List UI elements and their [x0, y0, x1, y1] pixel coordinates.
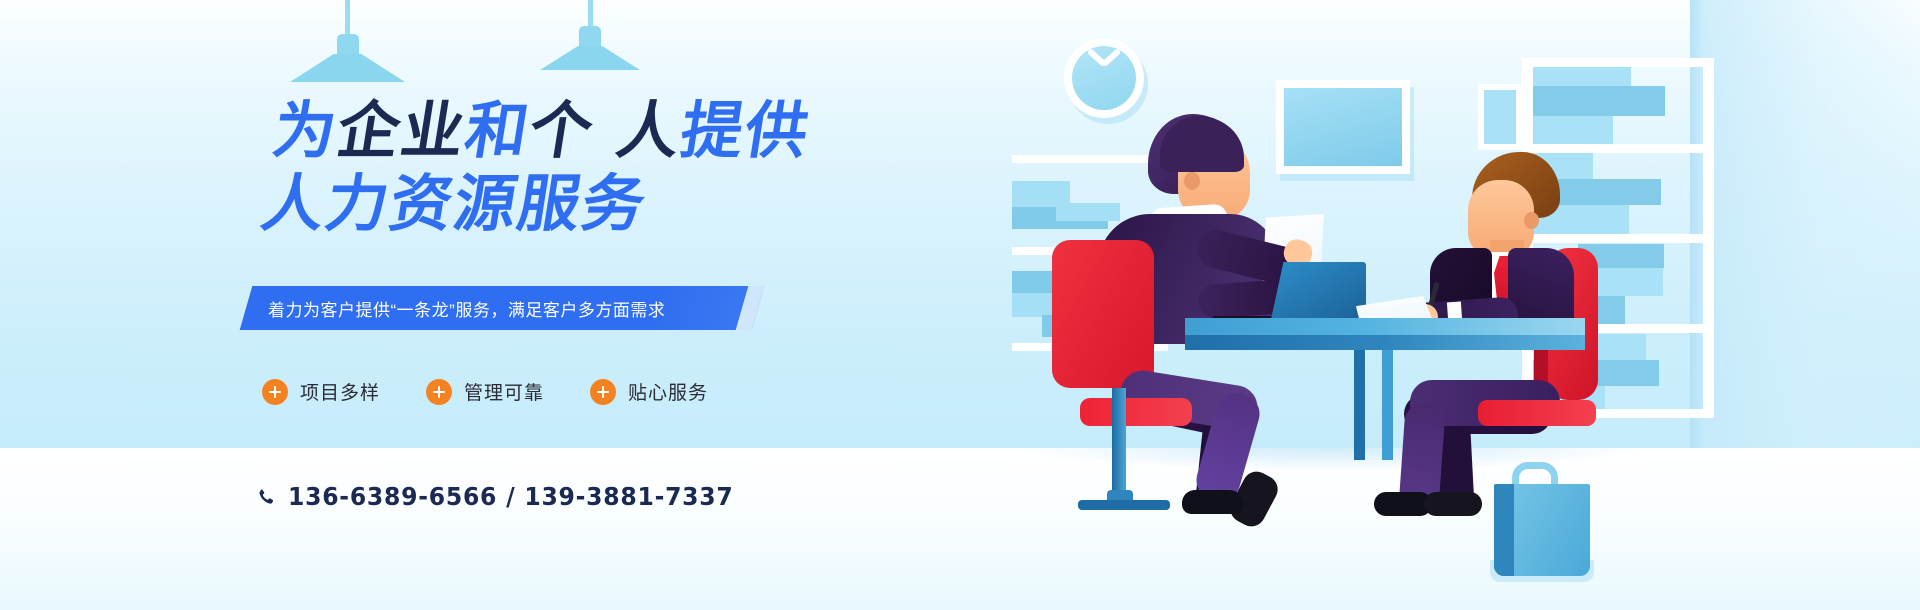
laptop-screen: [1270, 262, 1366, 324]
plus-icon: [590, 379, 616, 405]
phone-contact[interactable]: 136-6389-6566 / 139-3881-7337: [256, 482, 762, 511]
desk-leg: [1354, 350, 1365, 460]
wall-clock-icon: [1064, 38, 1144, 118]
plus-icon: [262, 379, 288, 405]
feature-item[interactable]: 贴心服务: [590, 378, 708, 405]
subtitle-text: 着力为客户提供“一条龙”服务，满足客户多方面需求: [268, 286, 768, 330]
wall-right-panel: [1690, 0, 1920, 448]
desk-front: [1185, 335, 1585, 350]
chair-right-seat: [1478, 400, 1596, 426]
feature-item[interactable]: 项目多样: [262, 378, 380, 405]
headline-line-1: 为企业和个 人提供: [268, 94, 815, 167]
chair-left-base: [1078, 500, 1170, 510]
chair-left-back: [1052, 240, 1154, 388]
picture-frame: [1276, 80, 1410, 174]
shelf-book: [1533, 86, 1665, 116]
phone-number: 136-6389-6566 / 139-3881-7337: [288, 482, 734, 511]
pendant-lamp-icon: [290, 0, 405, 90]
feature-item[interactable]: 管理可靠: [426, 378, 544, 405]
pendant-lamp-icon: [540, 0, 640, 80]
feature-label: 项目多样: [300, 378, 380, 405]
shelf-book: [1056, 203, 1120, 221]
shelf-board: [1522, 144, 1714, 153]
lamp-neck: [579, 26, 601, 48]
headline-line-2: 人力资源服务: [257, 171, 803, 238]
phone-icon: [256, 488, 274, 506]
shelf-book: [1533, 116, 1613, 144]
feature-label: 管理可靠: [464, 378, 544, 405]
lamp-neck: [337, 34, 359, 56]
feature-list: 项目多样 管理可靠 贴心服务: [262, 378, 708, 405]
lamp-shade: [540, 46, 640, 70]
hero-banner: 为企业和个 人提供 人力资源服务 着力为客户提供“一条龙”服务，满足客户多方面需…: [0, 0, 1920, 610]
headline: 为企业和个 人提供 人力资源服务: [257, 98, 815, 238]
desk-top: [1185, 318, 1585, 335]
headline-seg-1: 为: [268, 94, 344, 167]
chair-left-seat: [1080, 398, 1192, 426]
shelf-board: [1012, 155, 1168, 163]
clock-hands: [1084, 60, 1124, 84]
briefcase-spine: [1494, 484, 1514, 576]
shelf-board: [1522, 234, 1714, 243]
plus-icon: [426, 379, 452, 405]
person-left-shoe-front: [1182, 490, 1244, 514]
lamp-shade: [290, 54, 405, 82]
picture-frame-small-image: [1484, 90, 1516, 144]
person-right-ear: [1524, 212, 1539, 229]
picture-frame-small: [1478, 84, 1522, 150]
headline-seg-3: 和: [460, 94, 536, 167]
person-left-ear: [1184, 172, 1200, 190]
office-floor: [0, 448, 1920, 610]
desk-leg: [1382, 350, 1393, 460]
headline-seg-4: 个 人: [524, 94, 687, 167]
shelf-board: [1522, 58, 1714, 67]
feature-label: 贴心服务: [628, 378, 708, 405]
picture-frame-image: [1284, 88, 1402, 166]
person-right-shoe-back: [1424, 492, 1482, 516]
headline-seg-5: 提供: [676, 94, 816, 167]
lamp-cord: [588, 0, 593, 28]
headline-seg-2: 企业: [332, 94, 472, 167]
lamp-cord: [345, 0, 350, 36]
chair-left-stem: [1112, 388, 1126, 503]
